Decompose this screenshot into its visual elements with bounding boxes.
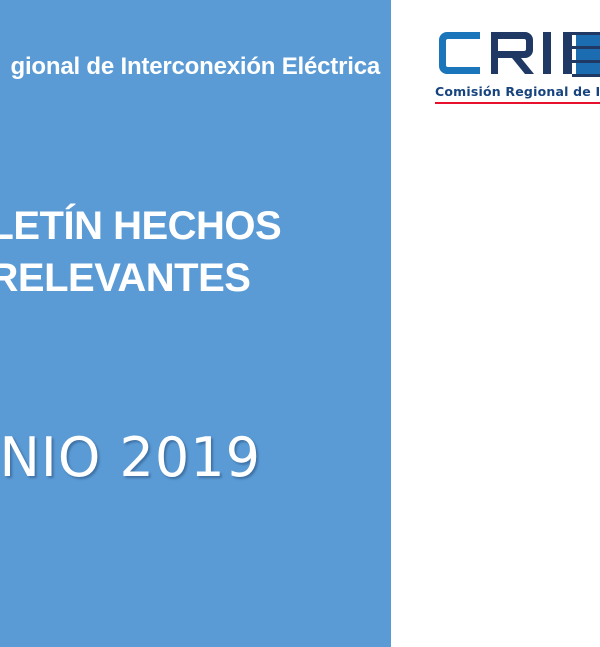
logo-caption: Comisión Regional de Inter <box>435 84 600 99</box>
organization-subtitle: gional de Interconexión Eléctrica <box>0 52 380 82</box>
issue-date: UNIO 2019 <box>0 425 320 491</box>
logo-underline-rule <box>435 102 600 104</box>
blue-background-panel <box>0 0 391 647</box>
page-title: OLETÍN HECHOS RELEVANTES <box>0 200 330 304</box>
page-title-line-1: OLETÍN HECHOS <box>0 200 330 252</box>
slide-canvas: gional de Interconexión Eléctrica OLETÍN… <box>0 0 600 647</box>
crie-logo: Comisión Regional de Inter <box>433 26 600 110</box>
crie-wordmark-icon <box>433 26 600 80</box>
page-title-line-2: RELEVANTES <box>0 252 330 304</box>
